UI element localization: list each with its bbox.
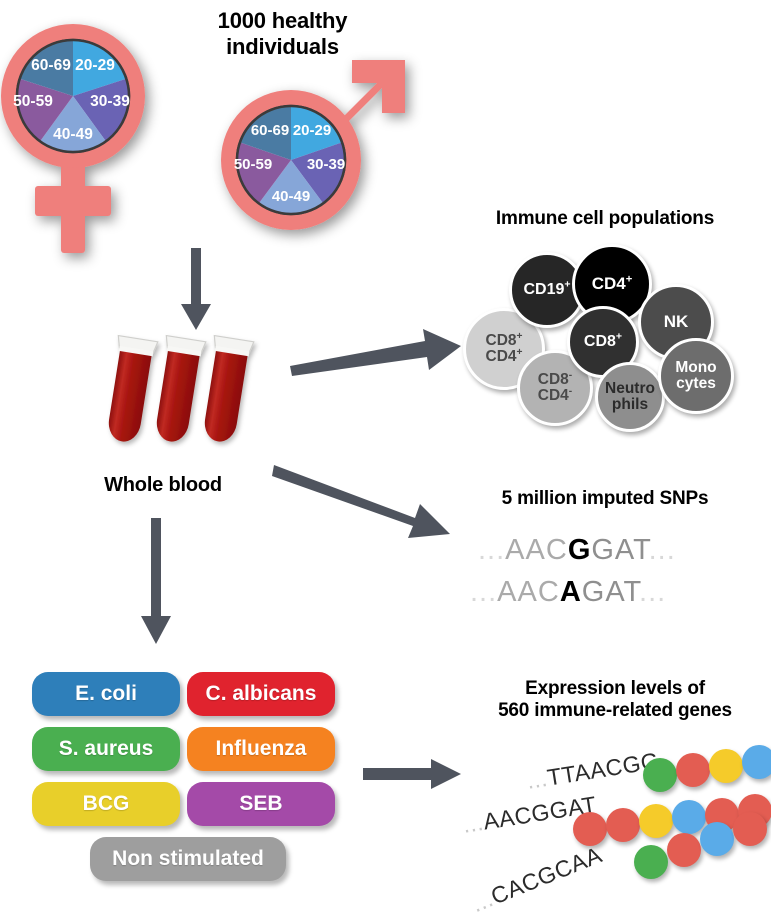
gene-bead	[667, 833, 701, 867]
snp-left: AAC	[505, 534, 568, 566]
cell-label: CD8+	[584, 334, 622, 351]
cell-neutrophils: Neutro phils	[595, 362, 665, 432]
gene-bead	[700, 822, 734, 856]
gene-strand-1-sequence: ...TTAACGG	[525, 747, 661, 795]
snp-highlight: G	[568, 534, 592, 566]
cell-label: CD19+	[523, 282, 570, 299]
snp-highlight: A	[560, 576, 582, 608]
snp-prefix: ...	[478, 534, 505, 566]
snps-title: 5 million imputed SNPs	[455, 488, 755, 510]
pie-slice-label-60-69: 60-69	[251, 122, 289, 139]
stimulus-seb[interactable]: SEB	[187, 782, 335, 826]
snp-right: GAT	[591, 534, 648, 566]
pie-slice-label-60-69: 60-69	[31, 57, 71, 74]
page-title: 1000 healthy individuals	[175, 8, 390, 60]
arrow-blood-to-immune-cells	[288, 328, 463, 376]
stimuli-panel: E. coli C. albicans S. aureus Influenza …	[32, 672, 342, 894]
stimulus-e-coli[interactable]: E. coli	[32, 672, 180, 716]
snp-suffix: ...	[649, 534, 676, 566]
pie-slice-label-30-39: 30-39	[90, 93, 130, 110]
cell-label-line1: CD8-	[538, 372, 572, 388]
immune-cells-title: Immune cell populations	[455, 208, 755, 230]
pie-slice-label-30-39: 30-39	[307, 156, 345, 173]
pie-slice-label-50-59: 50-59	[234, 156, 272, 173]
study-design-figure: 20-29 30-39 40-49 50-59 60-69	[0, 0, 771, 922]
stimulus-c-albicans[interactable]: C. albicans	[187, 672, 335, 716]
page-title-line2: individuals	[175, 34, 390, 60]
gene-bead	[606, 808, 640, 842]
snp-allele-row-1: ...AACGGAT...	[478, 534, 676, 567]
cell-monocytes: Mono cytes	[658, 338, 734, 414]
stimulus-s-aureus[interactable]: S. aureus	[32, 727, 180, 771]
snp-allele-row-2: ...AACAGAT...	[470, 576, 666, 609]
immune-cell-cluster: CD8+ CD4+ CD19+ CD8- CD4- CD4+ CD8+ Neut…	[455, 240, 755, 420]
gene-title-line1: Expression levels of	[470, 678, 760, 700]
arrow-cohort-to-blood	[178, 248, 214, 332]
female-symbol: 20-29 30-39 40-49 50-59 60-69	[0, 8, 200, 258]
cell-label: NK	[664, 313, 689, 331]
arrow-blood-to-stimuli	[138, 518, 174, 646]
snp-left: AAC	[497, 576, 560, 608]
pie-slice-label-40-49: 40-49	[272, 188, 310, 205]
whole-blood-tubes	[95, 330, 280, 470]
gene-bead	[643, 758, 677, 792]
snp-sequences: ...AACGGAT... ...AACAGAT...	[470, 528, 740, 618]
gene-bead	[709, 749, 743, 783]
whole-blood-label: Whole blood	[78, 474, 248, 498]
cell-label: CD4+	[592, 275, 633, 293]
gene-expression-strands: ...TTAACGG ...AACGGAT ...CACGCAA	[455, 740, 771, 915]
cell-label-line2: CD4-	[538, 388, 572, 404]
page-title-line1: 1000 healthy	[175, 8, 390, 34]
gene-bead	[733, 812, 767, 846]
stimulus-non-stimulated[interactable]: Non stimulated	[90, 837, 286, 881]
male-symbol: 20-29 30-39 40-49 50-59 60-69	[205, 38, 425, 253]
gene-bead	[676, 753, 710, 787]
gene-expression-title: Expression levels of 560 immune-related …	[470, 678, 760, 723]
pie-slice-label-20-29: 20-29	[293, 122, 331, 139]
cell-label-line2: cytes	[676, 376, 716, 392]
pie-slice-label-20-29: 20-29	[75, 57, 115, 74]
snp-prefix: ...	[470, 576, 497, 608]
cell-label-line2: phils	[612, 397, 648, 413]
gene-title-line2: 560 immune-related genes	[470, 700, 760, 722]
cell-label-line1: Neutro	[605, 381, 655, 397]
stimulus-influenza[interactable]: Influenza	[187, 727, 335, 771]
gene-strand-3-sequence: ...CACGCAA	[468, 841, 606, 918]
arrow-blood-to-snps	[272, 440, 462, 540]
pie-slice-label-50-59: 50-59	[13, 93, 53, 110]
cell-label-line1: Mono	[675, 360, 716, 376]
pie-slice-label-40-49: 40-49	[53, 126, 93, 143]
gene-bead	[573, 812, 607, 846]
snp-suffix: ...	[639, 576, 666, 608]
arrow-stimuli-to-genes	[363, 758, 463, 790]
snp-right: GAT	[582, 576, 639, 608]
gene-bead	[672, 800, 706, 834]
gene-bead	[639, 804, 673, 838]
stimulus-bcg[interactable]: BCG	[32, 782, 180, 826]
gene-bead	[634, 845, 668, 879]
cell-label-line2: CD4+	[486, 349, 523, 365]
gene-bead	[742, 745, 771, 779]
